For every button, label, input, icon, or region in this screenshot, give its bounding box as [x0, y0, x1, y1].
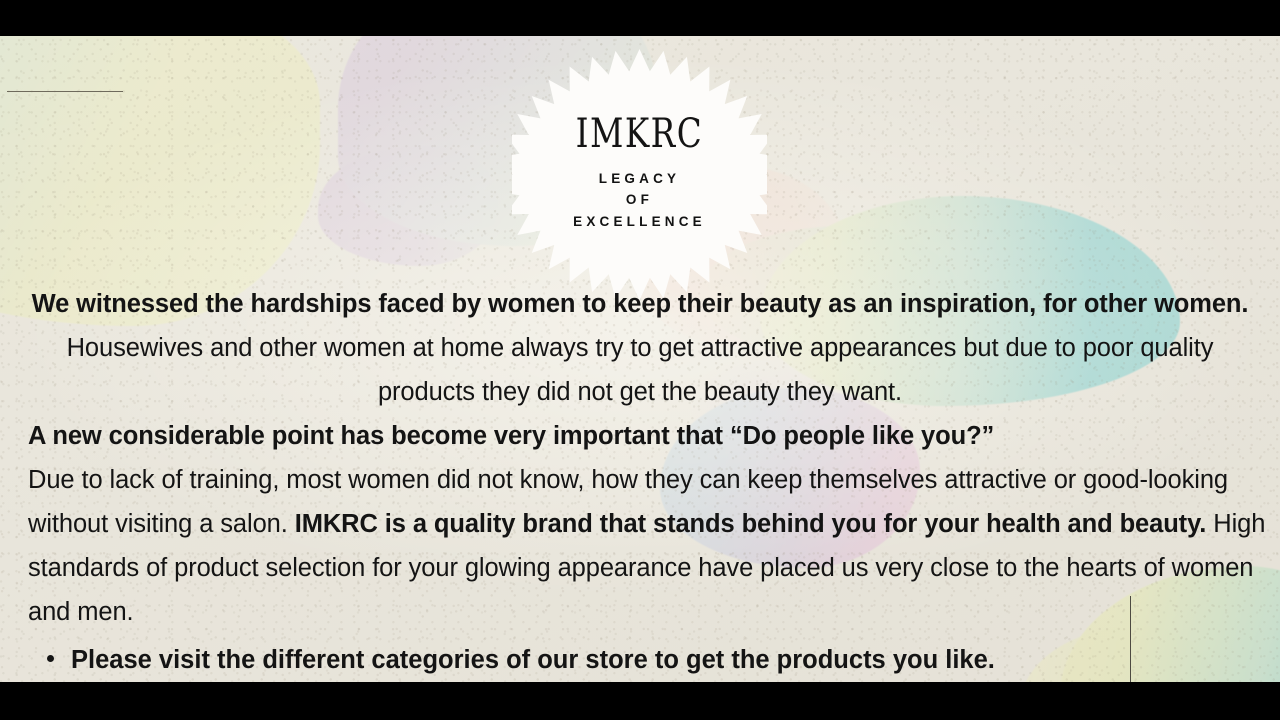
paragraph-2-line-3: standards of product selection for your …: [0, 546, 1280, 590]
paper-background: IMKRC LEGACY OF EXCELLENCE We witnessed …: [0, 36, 1280, 682]
horizontal-rule-decoration: [7, 91, 123, 92]
bullet-dot-icon: [47, 655, 54, 662]
list-item-label: Please visit the different categories of…: [71, 638, 995, 682]
badge-line-legacy: LEGACY: [599, 168, 680, 189]
letterbox-top: [0, 0, 1280, 36]
paragraph-2-line-2: without visiting a salon. IMKRC is a qua…: [0, 502, 1280, 546]
badge-line-of: OF: [626, 189, 653, 210]
legacy-badge: IMKRC LEGACY OF EXCELLENCE: [512, 47, 767, 302]
headline: We witnessed the hardships faced by wome…: [0, 282, 1280, 326]
badge-line-excellence: EXCELLENCE: [573, 211, 706, 232]
badge-text-group: IMKRC LEGACY OF EXCELLENCE: [512, 47, 767, 302]
body-copy: We witnessed the hardships faced by wome…: [0, 282, 1280, 682]
letterbox-bottom: [0, 682, 1280, 720]
brand-statement: IMKRC is a quality brand that stands beh…: [295, 510, 1207, 538]
paragraph-2-line-2-tail: High: [1206, 510, 1265, 538]
subheadline: A new considerable point has become very…: [0, 414, 1280, 458]
paragraph-1-line-2: products they did not get the beauty the…: [0, 370, 1280, 414]
paragraph-2-line-4: and men.: [0, 590, 1280, 634]
paragraph-2-line-2-lead: without visiting a salon.: [28, 510, 295, 538]
paragraph-2-line-1: Due to lack of training, most women did …: [0, 458, 1280, 502]
list-item: Please visit the different categories of…: [0, 638, 1280, 682]
paragraph-1-line-1: Housewives and other women at home alway…: [0, 326, 1280, 370]
imkrc-wordmark: IMKRC: [576, 114, 703, 154]
slide-canvas: IMKRC LEGACY OF EXCELLENCE We witnessed …: [0, 0, 1280, 720]
